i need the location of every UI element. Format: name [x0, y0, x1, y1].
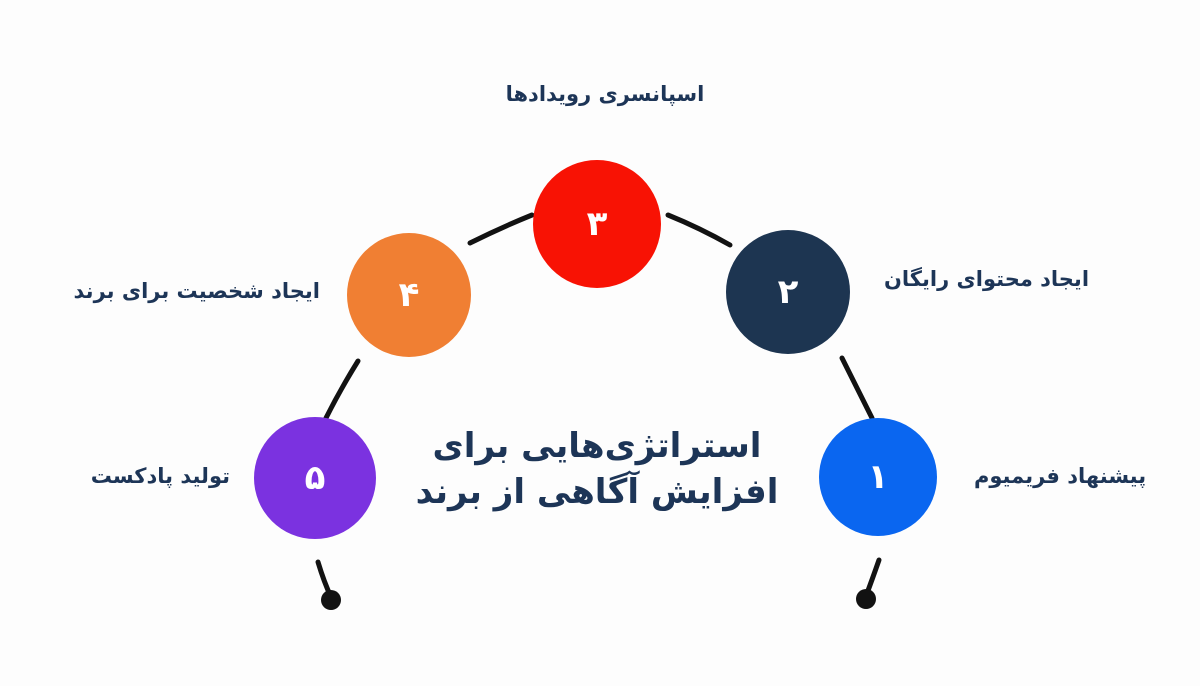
node-number-1: ۱: [868, 460, 889, 494]
node-circle-3[interactable]: ۳: [533, 160, 661, 288]
node-number-4: ۴: [399, 278, 420, 312]
tail-left: [318, 562, 331, 597]
node-number-2: ۲: [778, 275, 799, 309]
node-circle-1[interactable]: ۱: [819, 418, 937, 536]
node-number-5: ۵: [305, 461, 326, 495]
node-label-2: ایجاد محتوای رایگان: [884, 265, 1174, 293]
connector-3-to-2: [668, 215, 730, 245]
node-circle-2[interactable]: ۲: [726, 230, 850, 354]
connector-4-to-5: [326, 361, 358, 418]
connector-2-to-1: [842, 358, 872, 418]
node-label-1: پیشنهاد فریمیوم: [974, 462, 1200, 490]
node-label-4: ایجاد شخصیت برای برند: [10, 277, 320, 305]
tail-right: [866, 560, 879, 596]
node-circle-4[interactable]: ۴: [347, 233, 471, 357]
node-number-3: ۳: [587, 207, 608, 241]
infographic-canvas: ۳ اسپانسری رویدادها ۲ ایجاد محتوای رایگا…: [0, 0, 1200, 686]
connector-3-to-4: [470, 215, 532, 243]
page-title: استراتژی‌هایی برای افزایش آگاهی از برند: [406, 424, 788, 515]
tail-right-dot: [856, 589, 876, 609]
node-label-5: تولید پادکست: [20, 462, 230, 490]
tail-left-dot: [321, 590, 341, 610]
node-circle-5[interactable]: ۵: [254, 417, 376, 539]
node-label-3: اسپانسری رویدادها: [455, 80, 755, 108]
